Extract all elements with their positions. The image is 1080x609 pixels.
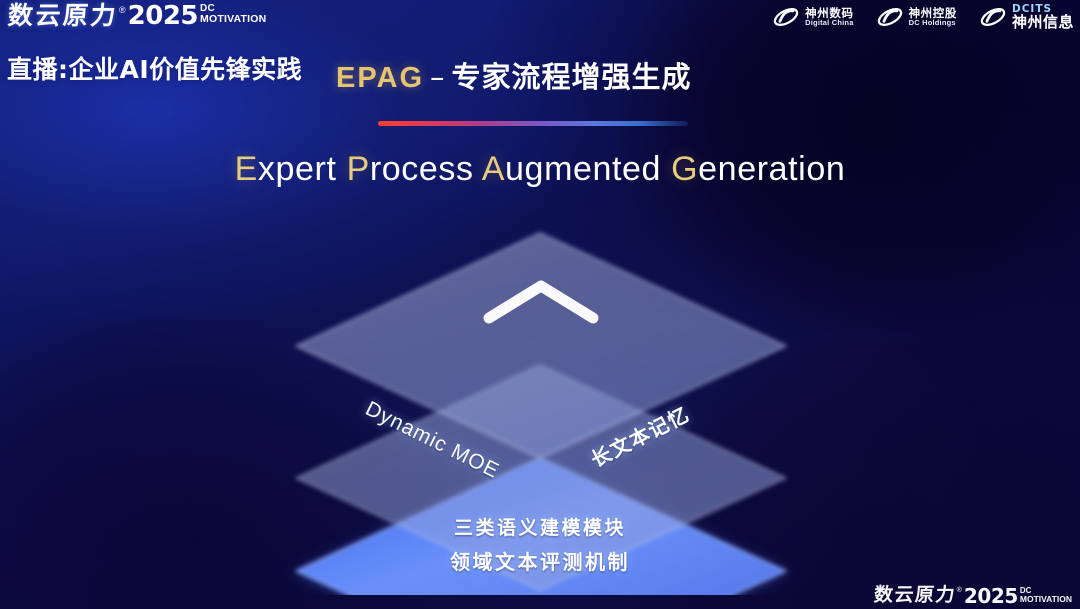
- layer-top-label: 领域文本评测机制: [0, 546, 1080, 575]
- subtitle-rest-1: rocess: [370, 150, 482, 188]
- swirl-logo-icon: [876, 4, 904, 30]
- live-banner-text: 直播:企业AI价值先锋实践: [7, 50, 302, 86]
- watermark-dc-motivation: DC MOTIVATION: [1020, 587, 1072, 604]
- subtitle-cap-2: A: [482, 150, 505, 188]
- page-subtitle: Expert Process Augmented Generation: [0, 150, 1080, 189]
- brand-digital-china-text: 神州数码 Digital China: [805, 7, 853, 27]
- watermark-cn: 数云原力: [873, 586, 957, 605]
- brand-dc-holdings-en: DC Holdings: [909, 19, 957, 27]
- watermark-motivation: MOTIVATION: [1020, 595, 1072, 604]
- subtitle-cap-1: P: [347, 150, 370, 188]
- page-title: EPAG–专家流程增强生成: [336, 54, 692, 96]
- brand-dcits: DCITS 神州信息: [979, 4, 1074, 31]
- brand-digital-china-en: Digital China: [805, 19, 853, 27]
- brand-dc-holdings: 神州控股 DC Holdings: [876, 4, 957, 30]
- watermark-registered: ®: [957, 587, 962, 594]
- event-logo-motivation: MOTIVATION: [200, 14, 266, 25]
- headline-acronym: EPAG: [336, 62, 424, 94]
- brand-logo-bar: 神州数码 Digital China 神州控股 DC Holdings DCIT…: [772, 4, 1074, 31]
- subtitle-rest-3: eneration: [698, 150, 845, 188]
- brand-dcits-cn: 神州信息: [1012, 15, 1074, 31]
- subtitle-cap-0: E: [235, 150, 258, 188]
- swirl-logo-icon: [772, 4, 800, 30]
- brand-dc-holdings-text: 神州控股 DC Holdings: [909, 7, 957, 27]
- event-logo-dc-motivation: DC MOTIVATION: [200, 4, 266, 25]
- event-logo: 数云原力 ® 2025 DC MOTIVATION: [8, 3, 266, 29]
- headline-dash: –: [430, 60, 446, 94]
- event-logo-registered: ®: [119, 5, 126, 15]
- layer-top-shape: [296, 233, 786, 458]
- brand-dcits-text: DCITS 神州信息: [1012, 4, 1074, 31]
- watermark-year: 2025: [964, 586, 1018, 606]
- headline-chinese: 专家流程增强生成: [452, 60, 692, 94]
- subtitle-rest-0: xpert: [258, 150, 347, 188]
- brand-digital-china: 神州数码 Digital China: [772, 4, 853, 30]
- footer-watermark-logo: 数云原力 ® 2025 DC MOTIVATION: [874, 586, 1072, 606]
- event-logo-year: 2025: [128, 3, 198, 29]
- slide-canvas: 数云原力 ® 2025 DC MOTIVATION 直播:企业AI价值先锋实践 …: [0, 0, 1080, 609]
- subtitle-cap-3: G: [671, 150, 698, 188]
- layer-bottom-label: 三类语义建模模块: [0, 513, 1080, 540]
- gradient-divider: [378, 121, 688, 126]
- subtitle-rest-2: ugmented: [505, 150, 671, 188]
- event-logo-cn: 数云原力: [7, 3, 119, 28]
- swirl-logo-icon: [979, 4, 1007, 30]
